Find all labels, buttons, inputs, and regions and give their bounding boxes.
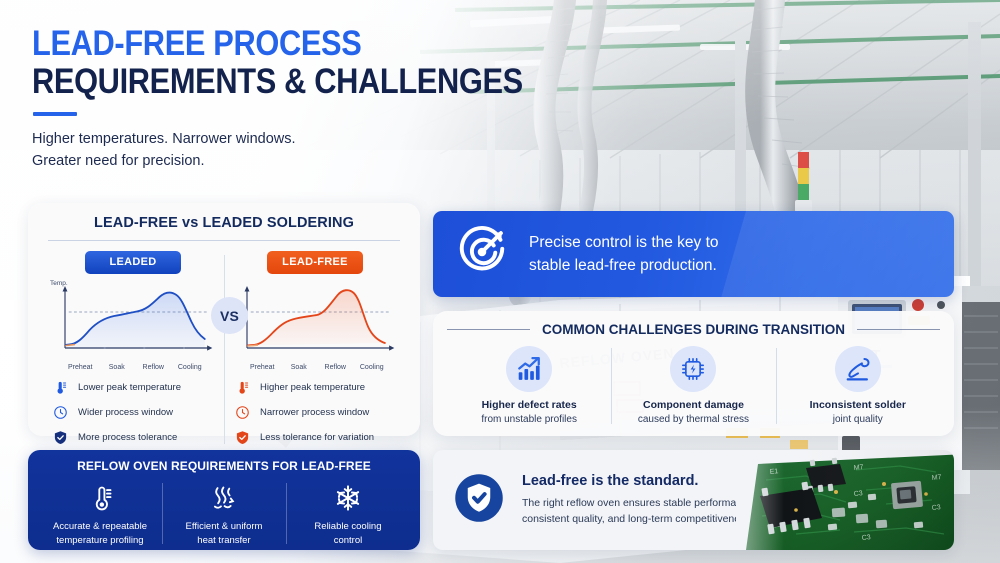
header-rule-left <box>447 329 530 330</box>
precision-banner: Precise control is the key to stable lea… <box>433 211 954 297</box>
page-header: LEAD-FREE PROCESS REQUIREMENTS & CHALLEN… <box>32 26 590 172</box>
page-title-line2: REQUIREMENTS & CHALLENGES <box>32 64 523 100</box>
requirement-line2: temperature profiling <box>42 534 158 548</box>
banner-line1: Precise control is the key to <box>529 231 719 254</box>
requirements-title: REFLOW OVEN REQUIREMENTS FOR LEAD-FREE <box>38 459 410 473</box>
pcb-photo: E1 M7 M7 C3 C3 C25 C3 <box>736 450 954 550</box>
challenge-subtitle: from unstable profiles <box>453 413 605 426</box>
challenges-columns: Higher defect rates from unstable profil… <box>447 346 940 426</box>
challenge-item-3: Inconsistent solder joint quality <box>776 346 940 426</box>
comparison-divider <box>48 240 400 241</box>
leadfree-badge: LEAD-FREE <box>267 251 363 274</box>
leaded-feature-1: Lower peak temperature <box>52 379 220 396</box>
feature-label: Wider process window <box>78 407 173 418</box>
comparison-columns: LEADED Temp. <box>42 251 406 446</box>
chip-bolt-icon <box>670 346 716 392</box>
reflow-requirements-card: REFLOW OVEN REQUIREMENTS FOR LEAD-FREE A… <box>28 450 420 550</box>
shield-check-icon <box>454 473 504 528</box>
requirement-line1: Reliable cooling <box>290 520 406 534</box>
clock-icon <box>234 404 251 421</box>
leadfree-feature-2: Narrower process window <box>234 404 402 421</box>
leadfree-profile-chart <box>230 282 400 362</box>
leaded-column: LEADED Temp. <box>42 251 224 446</box>
banner-text: Precise control is the key to stable lea… <box>529 231 719 278</box>
requirement-line2: heat transfer <box>166 534 282 548</box>
requirement-item-2: Efficient & uniform heat transfer <box>162 481 286 548</box>
challenge-title: Higher defect rates <box>453 399 605 413</box>
stage-label: Soak <box>99 364 136 371</box>
standard-text-block: Lead-free is the standard. The right ref… <box>522 473 756 528</box>
leadfree-feature-1: Higher peak temperature <box>234 379 402 396</box>
thermometer-icon <box>52 379 69 396</box>
leaded-profile-chart: Temp. <box>48 282 218 362</box>
shield-check-icon <box>52 429 69 446</box>
banner-line2: stable lead-free production. <box>529 254 719 277</box>
standard-line1: The right reflow oven ensures stable per… <box>522 495 756 511</box>
stage-label: Cooling <box>354 364 391 371</box>
requirement-line1: Accurate & repeatable <box>42 520 158 534</box>
thermometer-icon <box>234 379 251 396</box>
stage-label: Preheat <box>244 364 281 371</box>
challenge-subtitle: caused by thermal stress <box>617 413 769 426</box>
leadfree-feature-3: Less tolerance for variation <box>234 429 402 446</box>
standard-line2: consistent quality, and long-term compet… <box>522 511 756 527</box>
comparison-title: LEAD-FREE vs LEADED SOLDERING <box>42 215 406 231</box>
stage-label: Reflow <box>317 364 354 371</box>
feature-label: Lower peak temperature <box>78 382 181 393</box>
stage-label: Soak <box>281 364 318 371</box>
page-title-line1: LEAD-FREE PROCESS <box>32 26 523 62</box>
feature-label: More process tolerance <box>78 432 177 443</box>
challenges-separator-2 <box>776 348 777 424</box>
requirements-columns: Accurate & repeatable temperature profil… <box>38 481 410 548</box>
feature-label: Narrower process window <box>260 407 369 418</box>
requirement-item-3: Reliable cooling control <box>286 481 410 548</box>
thermometer-icon <box>42 481 158 515</box>
feature-label: Less tolerance for variation <box>260 432 374 443</box>
subtitle-line1: Higher temperatures. Narrower windows. <box>32 128 590 150</box>
challenges-title: COMMON CHALLENGES DURING TRANSITION <box>542 322 845 337</box>
requirements-separator-2 <box>286 483 287 544</box>
stage-label: Cooling <box>172 364 209 371</box>
leadfree-column: LEAD-FREE <box>224 251 406 446</box>
leaded-feature-2: Wider process window <box>52 404 220 421</box>
temp-axis-label: Temp. <box>50 280 68 287</box>
solder-joint-icon <box>835 346 881 392</box>
challenges-header: COMMON CHALLENGES DURING TRANSITION <box>447 322 940 337</box>
clock-icon <box>52 404 69 421</box>
header-rule-right <box>857 329 940 330</box>
challenge-subtitle: joint quality <box>782 413 934 426</box>
stage-label: Preheat <box>62 364 99 371</box>
lead-free-standard-card: Lead-free is the standard. The right ref… <box>433 450 954 550</box>
challenges-separator-1 <box>611 348 612 424</box>
leaded-badge: LEADED <box>85 251 181 274</box>
requirements-separator-1 <box>162 483 163 544</box>
leadfree-stage-labels: Preheat Soak Reflow Cooling <box>244 364 390 371</box>
target-arrow-icon <box>455 225 509 284</box>
challenge-item-1: Higher defect rates from unstable profil… <box>447 346 611 426</box>
leaded-stage-labels: Preheat Soak Reflow Cooling <box>62 364 208 371</box>
challenge-title: Component damage <box>617 399 769 413</box>
leaded-feature-3: More process tolerance <box>52 429 220 446</box>
subtitle-line2: Greater need for precision. <box>32 150 590 172</box>
common-challenges-card: COMMON CHALLENGES DURING TRANSITION High… <box>433 311 954 436</box>
requirement-item-1: Accurate & repeatable temperature profil… <box>38 481 162 548</box>
title-accent-rule <box>33 112 77 116</box>
snowflake-icon <box>290 481 406 515</box>
vs-badge: VS <box>211 297 248 334</box>
requirement-line2: control <box>290 534 406 548</box>
requirement-line1: Efficient & uniform <box>166 520 282 534</box>
challenge-item-2: Component damage caused by thermal stres… <box>611 346 775 426</box>
feature-label: Higher peak temperature <box>260 382 365 393</box>
shield-check-icon <box>234 429 251 446</box>
heat-flow-icon <box>166 481 282 515</box>
bar-chart-up-icon <box>506 346 552 392</box>
challenge-title: Inconsistent solder <box>782 399 934 413</box>
stage-label: Reflow <box>135 364 172 371</box>
comparison-vertical-divider <box>224 255 225 444</box>
standard-heading: Lead-free is the standard. <box>522 473 756 489</box>
